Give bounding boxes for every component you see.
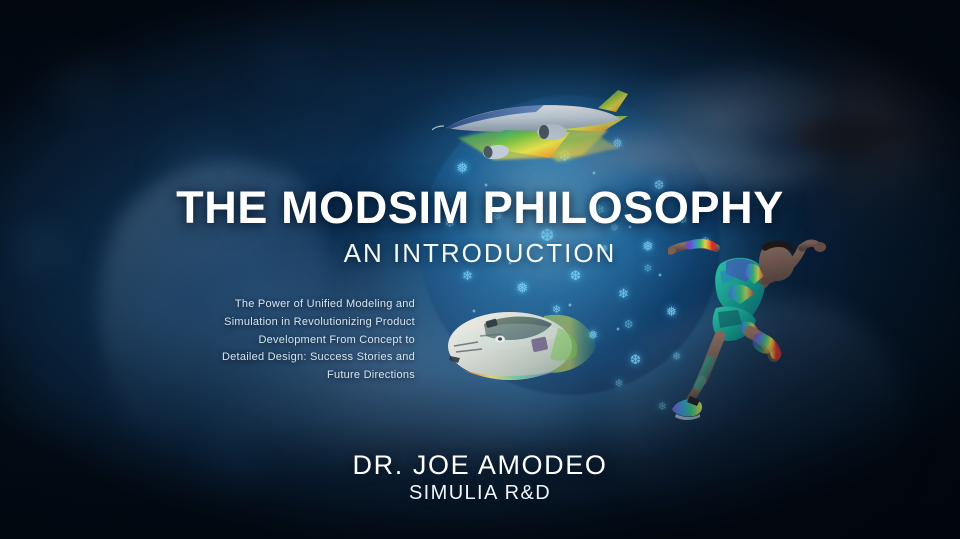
- description-line: Development From Concept to: [170, 332, 415, 350]
- slide-title: THE MODSIM PHILOSOPHY: [0, 182, 960, 234]
- description-line: Simulation in Revolutionizing Product: [170, 314, 415, 332]
- slide-description: The Power of Unified Modeling and Simula…: [170, 296, 415, 385]
- slide-subtitle: AN INTRODUCTION: [0, 238, 960, 269]
- description-line: Future Directions: [170, 367, 415, 385]
- presentation-slide: ❅ ❆ ❄ ❅ ❆ ❄ ❅ ❆ ❄ ❅ ❆ ❄ ❅ ❆ ❄ ❅ ❆ ❄ ❅ ❆ …: [0, 0, 960, 539]
- presenter-name: DR. JOE AMODEO: [0, 450, 960, 481]
- presenter-affiliation: SIMULIA R&D: [0, 482, 960, 505]
- slide-text-layer: THE MODSIM PHILOSOPHY AN INTRODUCTION Th…: [0, 0, 960, 539]
- description-line: The Power of Unified Modeling and: [170, 296, 415, 314]
- description-line: Detailed Design: Success Stories and: [170, 349, 415, 367]
